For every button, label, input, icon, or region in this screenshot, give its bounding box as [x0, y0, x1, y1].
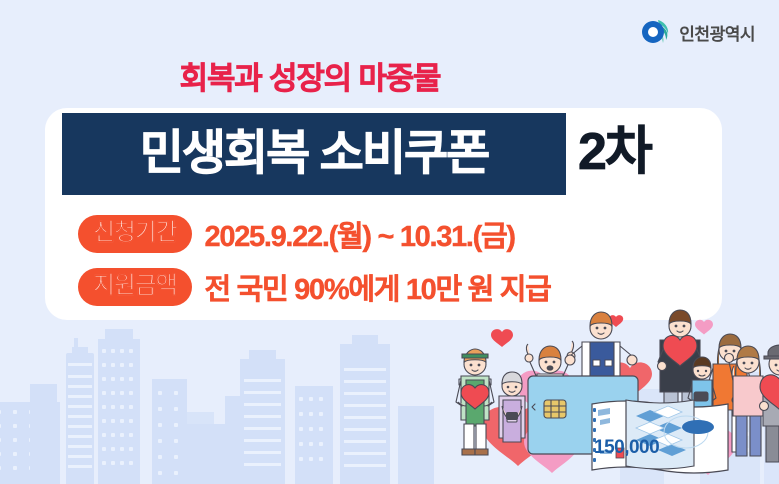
info-row-application-period: 신청기간 2025.9.22.(월) ~ 10.31.(금) — [78, 213, 515, 255]
skyline-building — [184, 412, 214, 484]
skyline-building-cap — [249, 350, 276, 359]
building-window-dots — [102, 347, 136, 478]
brand-logo: 인천광역시 — [640, 17, 755, 47]
skyline-building — [30, 384, 57, 484]
phase-badge: 2차 — [578, 126, 651, 178]
promo-poster: 인천광역시 회복과 성장의 마중물 민생회복 소비쿠폰 2차 신청기간 2025… — [0, 0, 779, 484]
page-title: 민생회복 소비쿠폰 — [140, 130, 489, 178]
value-application-period: 2025.9.22.(월) ~ 10.31.(금) — [205, 213, 515, 255]
page-headline: 회복과 성장의 마중물 — [0, 53, 620, 98]
card-chip-icon — [544, 400, 566, 418]
person-lilac-elder — [499, 372, 525, 442]
org-name: 인천광역시 — [679, 20, 755, 45]
skyline-building — [98, 339, 140, 484]
main-title-block: 민생회복 소비쿠폰 — [62, 113, 566, 195]
skyline-building — [66, 353, 94, 484]
skyline-building — [240, 359, 285, 484]
skyline-building-cap — [352, 335, 378, 344]
voucher-amount: 150,000 — [594, 437, 659, 459]
incheon-circle-wave-logo-icon — [640, 17, 670, 47]
label-pill-support-amount: 지원금액 — [78, 268, 192, 305]
skyline-building — [398, 406, 434, 484]
skyline-building — [152, 379, 187, 484]
label-pill-application-period: 신청기간 — [78, 215, 192, 252]
skyline-building-cap — [105, 329, 133, 339]
person-grey-elder — [760, 345, 779, 462]
skyline-building — [295, 386, 333, 484]
skyline-antenna — [74, 338, 78, 347]
skyline-building-cap — [72, 347, 88, 353]
building-window-dots — [156, 387, 184, 478]
building-window-dots — [299, 394, 329, 478]
skyline-building — [340, 344, 390, 484]
